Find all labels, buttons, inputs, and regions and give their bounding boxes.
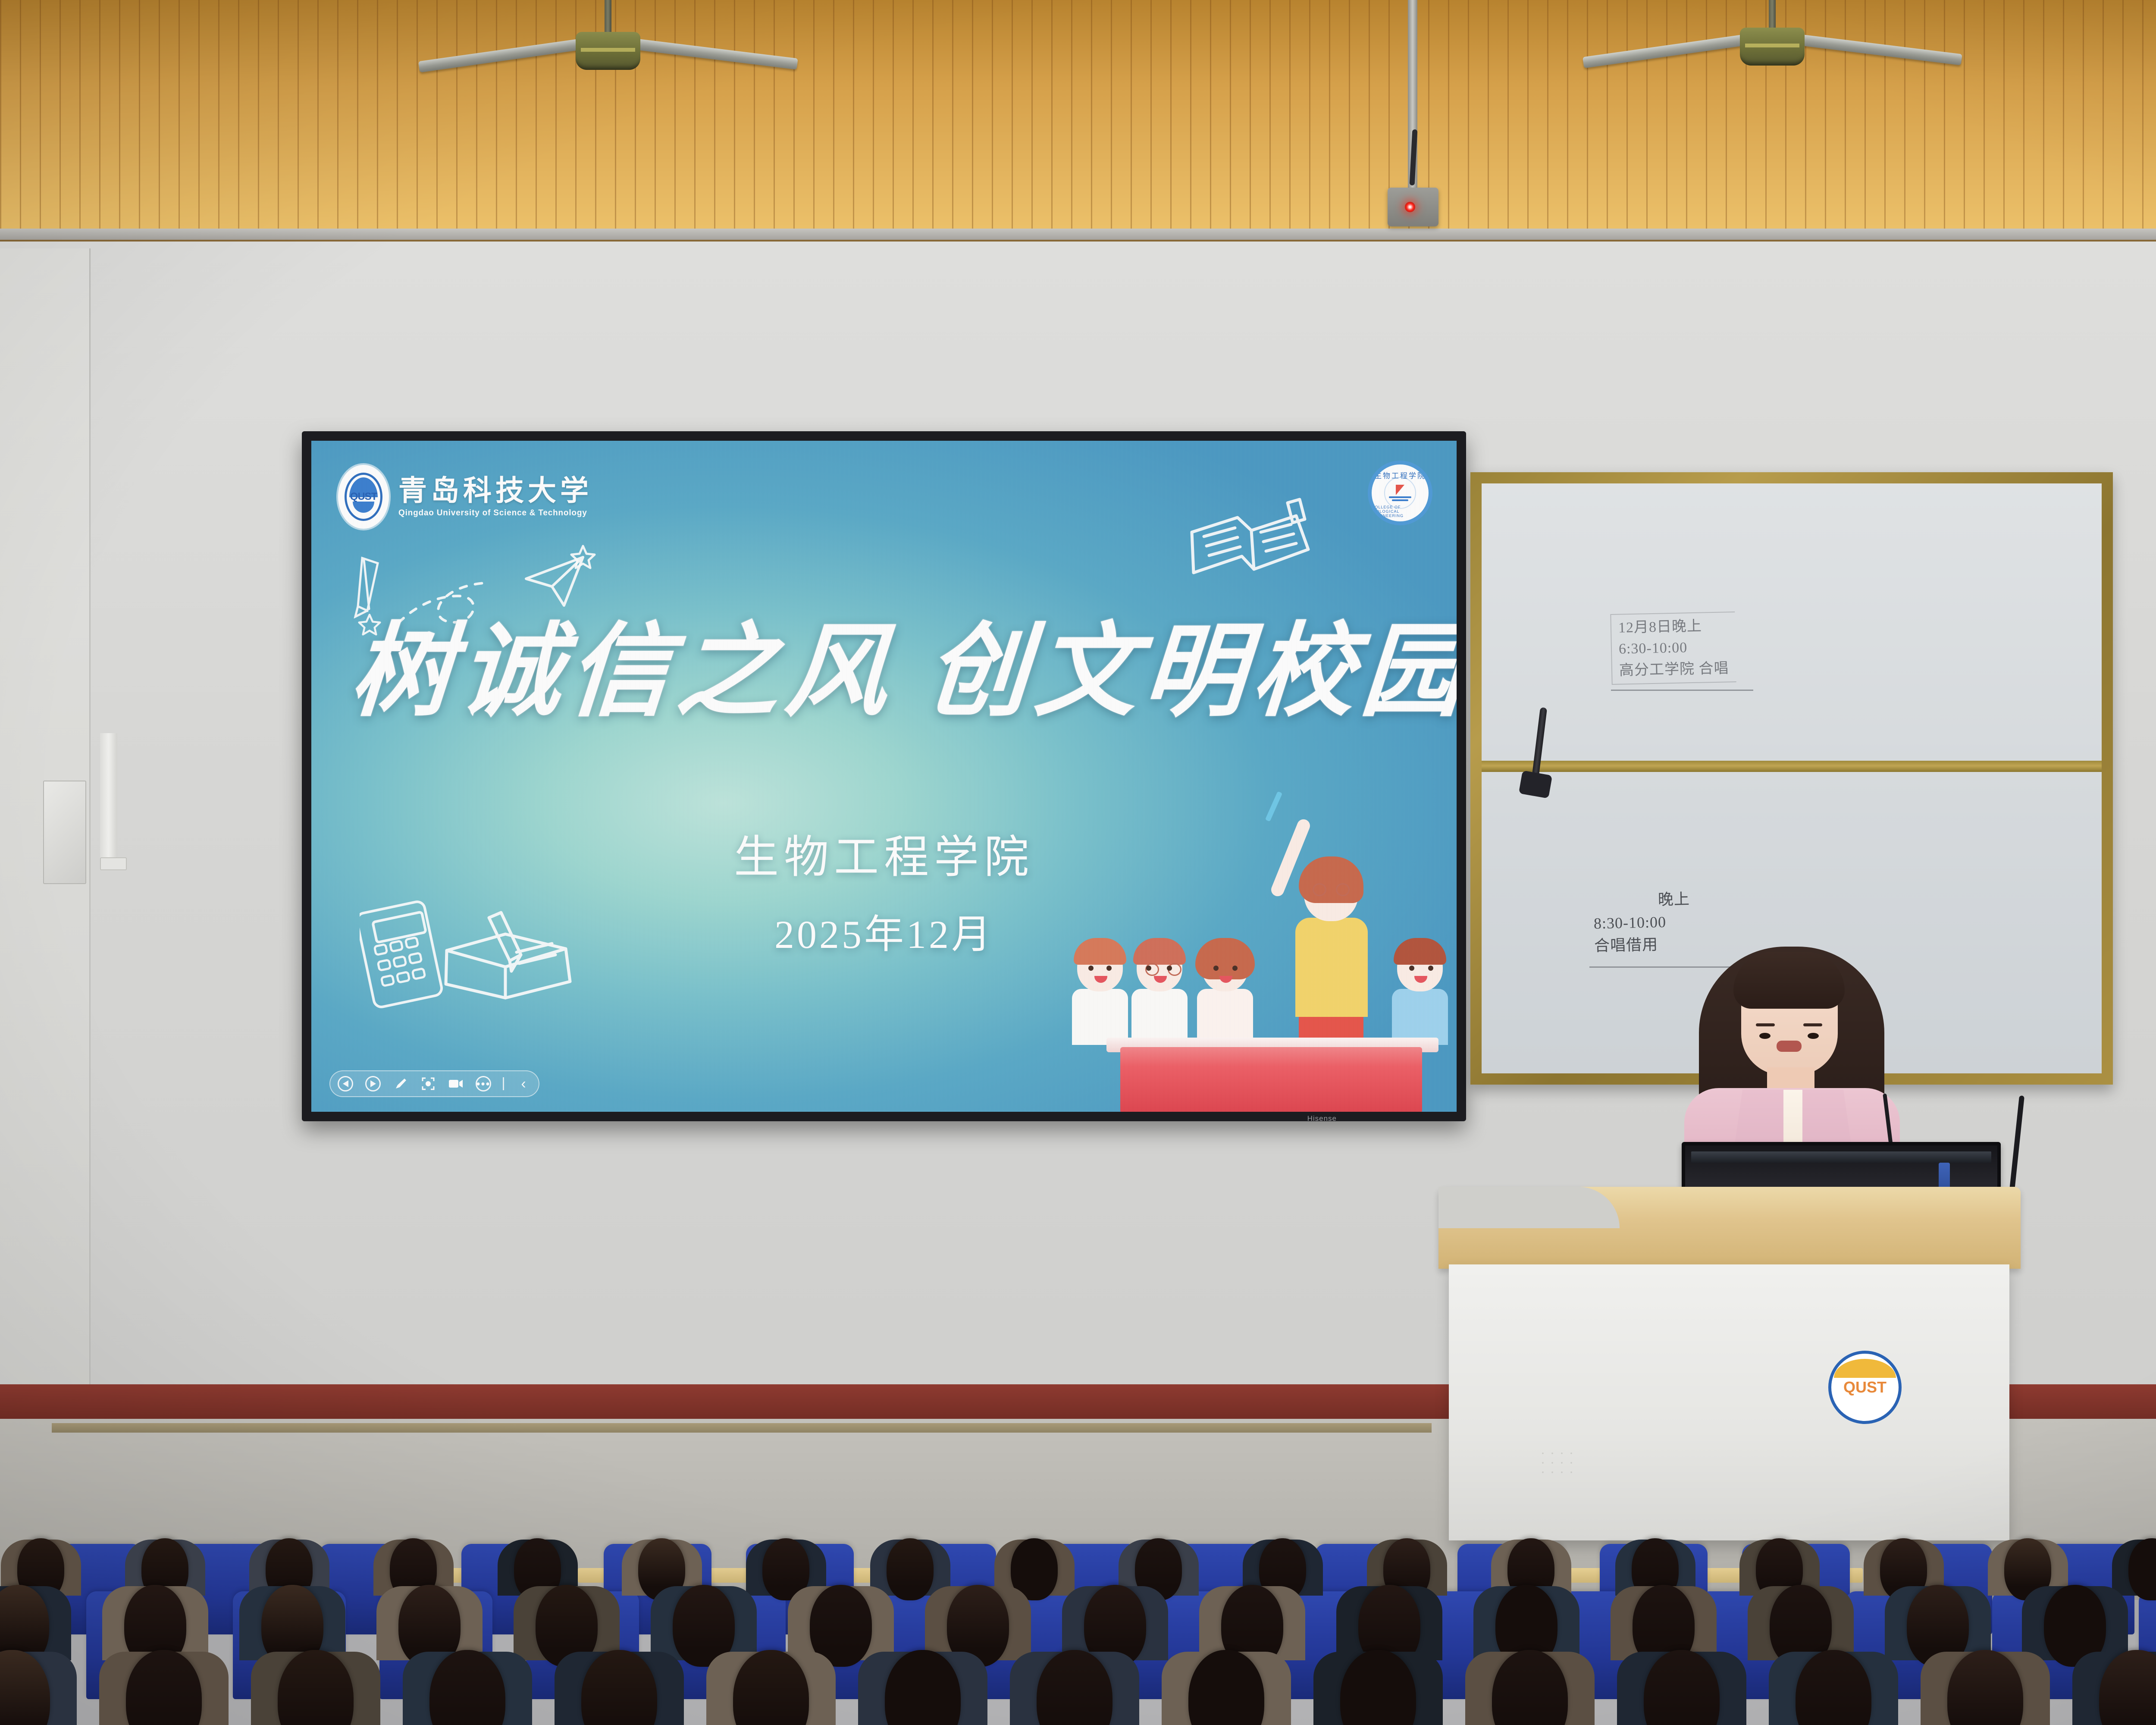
audience-member (429, 1650, 505, 1725)
whiteboard-note-top: 12月8日晚上 6:30-10:00 高分工学院 合唱 (1610, 612, 1736, 685)
audience-member (0, 1650, 50, 1725)
lectern-wood-top (1438, 1187, 2021, 1269)
audience-member (1492, 1650, 1568, 1725)
open-book-doodle (1185, 495, 1314, 590)
audience-member (1037, 1650, 1112, 1725)
lectern-logo-text: QUST (1843, 1378, 1887, 1396)
monitor-screen (1691, 1151, 1991, 1163)
star-doodle (570, 543, 596, 569)
audience-member (733, 1650, 809, 1725)
college-seal-icon: 生物工程学院 COLLEGE OF BIOLOGICAL ENGINEERING (1368, 461, 1432, 525)
cartoon-student (1202, 943, 1253, 1045)
audience-member (124, 1585, 186, 1660)
presentation-slide: QUST 青岛科技大学 Qingdao University of Scienc… (311, 441, 1457, 1112)
audience-member (2128, 1538, 2156, 1596)
cartoon-teacher (1304, 863, 1368, 1047)
audience-member (885, 1650, 961, 1725)
slide-main-title: 树诚信之风 创文明校园 (348, 622, 1433, 724)
college-seal-mark (1384, 477, 1416, 509)
classroom-cartoon-illustration (1073, 870, 1452, 1112)
audience-member (398, 1585, 461, 1660)
audience-member (261, 1585, 323, 1660)
more-options-icon[interactable]: ••• (475, 1076, 492, 1092)
college-seal-cn-text: 生物工程学院 (1374, 470, 1426, 480)
ceiling-fan-right (1708, 0, 1837, 73)
wall-conduit (100, 733, 117, 862)
whiteboard-note-top-line3: 高分工学院 合唱 (1619, 658, 1729, 681)
audience-member (1495, 1585, 1557, 1660)
collapse-toolbar-icon[interactable]: ‹ (515, 1076, 532, 1092)
audience-member (2099, 1650, 2156, 1725)
lectern-university-logo: QUST (1828, 1351, 1902, 1424)
university-logo: QUST 青岛科技大学 Qingdao University of Scienc… (338, 465, 592, 529)
lectern-monitor[interactable] (1682, 1142, 2001, 1194)
stage-edge (52, 1423, 1432, 1433)
university-seal-icon: QUST (338, 465, 389, 529)
ceiling-fan-left (543, 0, 673, 78)
audience-member (1011, 1538, 1058, 1596)
audience-member (1358, 1585, 1420, 1660)
powerpoint-presenter-toolbar[interactable]: ••• ‹ (329, 1070, 539, 1097)
fan-rod (1769, 0, 1776, 30)
whiteboard-note-bottom-line2: 8:30-10:00 (1593, 910, 1690, 935)
previous-slide-icon[interactable] (337, 1076, 354, 1092)
fan-motor (1740, 28, 1805, 66)
audience-member (1907, 1585, 1969, 1660)
college-seal-en-text: COLLEGE OF BIOLOGICAL ENGINEERING (1372, 505, 1429, 518)
audience-member (1633, 1585, 1695, 1660)
audience-member (2044, 1585, 2106, 1660)
audience-member (947, 1585, 1009, 1660)
audience-member (1084, 1585, 1146, 1660)
audience-member (887, 1538, 934, 1596)
seal-mark-text: QUST (350, 491, 377, 503)
audience-member (581, 1650, 657, 1725)
whiteboard-note-top-line1: 12月8日晚上 (1618, 615, 1728, 639)
whiteboard-note-bottom-line1: 晚上 (1658, 888, 1690, 911)
laser-pointer-icon[interactable] (420, 1076, 436, 1092)
teacher-pointer-icon (1265, 791, 1282, 822)
fan-motor (576, 32, 640, 70)
audience-member (1770, 1585, 1832, 1660)
audience-member (762, 1538, 809, 1596)
lecture-hall-scene: QUST 青岛科技大学 Qingdao University of Scienc… (0, 0, 2156, 1725)
cartoon-desk (1120, 1047, 1422, 1112)
whiteboard-underline (1611, 690, 1753, 691)
cartoon-student (1137, 943, 1188, 1045)
audience-area (0, 1432, 2156, 1725)
university-name-cn: 青岛科技大学 (398, 476, 592, 505)
presenter-view-icon[interactable] (448, 1076, 464, 1092)
collapse-glyph: ‹ (521, 1076, 526, 1092)
presenter-fringe (1733, 952, 1845, 1009)
audience-head (887, 1538, 934, 1600)
display-brand-label: Hisense (1307, 1114, 1337, 1123)
whiteboard-note-top-line2: 6:30-10:00 (1619, 637, 1729, 660)
toolbar-divider (503, 1077, 504, 1090)
audience-member (1340, 1650, 1416, 1725)
audience-member (673, 1585, 735, 1660)
audience-member (126, 1650, 202, 1725)
next-slide-icon[interactable] (365, 1076, 381, 1092)
projector-power-led (1405, 202, 1415, 212)
audience-member (1947, 1650, 2023, 1725)
pen-tool-icon[interactable] (392, 1076, 409, 1092)
wall-light-switch[interactable] (100, 857, 127, 870)
cartoon-student (1077, 943, 1128, 1045)
university-name-en: Qingdao University of Science & Technolo… (398, 508, 592, 518)
audience-member (810, 1585, 872, 1660)
sail-icon (1396, 485, 1404, 495)
audience-member (1796, 1650, 1871, 1725)
audience-member (278, 1650, 354, 1725)
audience-member (1221, 1585, 1283, 1660)
audience-member (1644, 1650, 1720, 1725)
audience-member (536, 1585, 598, 1660)
projection-display[interactable]: QUST 青岛科技大学 Qingdao University of Scienc… (302, 431, 1466, 1121)
cartoon-student (1397, 943, 1448, 1045)
wall-electrical-box[interactable] (43, 781, 86, 884)
fan-rod (605, 0, 611, 34)
presenter-mouth (1777, 1041, 1802, 1052)
wave-icon (1389, 496, 1411, 498)
whiteboard-frame-divider (1482, 761, 2102, 772)
audience-member (0, 1585, 49, 1660)
audience-member (1188, 1650, 1264, 1725)
